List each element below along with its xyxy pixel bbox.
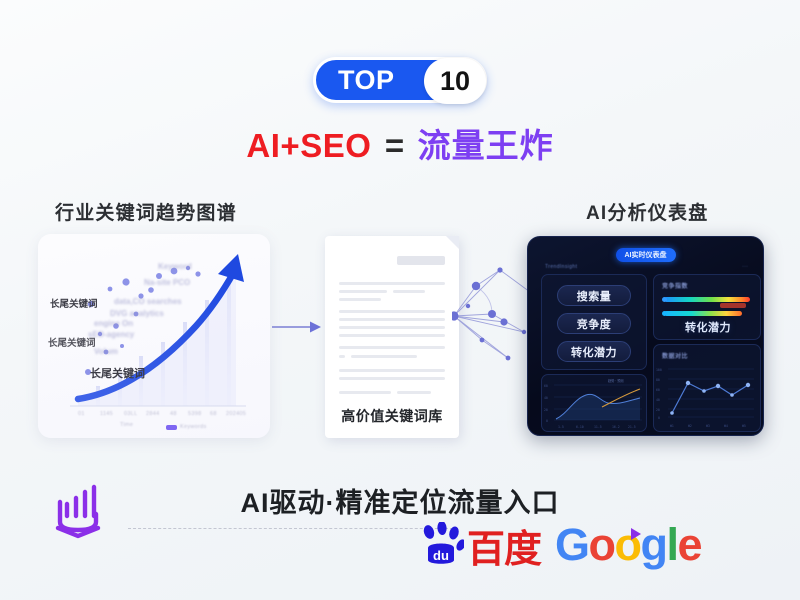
section-heading-dashboard: AI分析仪表盘 [586, 198, 708, 225]
keyword-library-document-card[interactable]: 高价值关键词库 [325, 236, 459, 438]
svg-text:40: 40 [544, 396, 548, 400]
dashboard-overlay-metric: 转化潜力 [654, 319, 762, 335]
svg-text:W4: W4 [724, 424, 728, 428]
svg-text:21-5: 21-5 [628, 425, 636, 429]
svg-text:11-5: 11-5 [594, 425, 602, 429]
svg-text:1-5: 1-5 [558, 425, 564, 429]
svg-text:16-2: 16-2 [612, 425, 620, 429]
doc-text-line [339, 334, 445, 337]
competition-gradient-bar-1 [664, 297, 750, 302]
ai-dashboard-panel[interactable]: AI实时仪表盘 TrendInsight ··· 搜索量 竞争度 转化潜力 [527, 236, 764, 436]
title-equals-sign: = [385, 127, 404, 164]
svg-text:0: 0 [546, 419, 548, 423]
title-left-text: AI+SEO [246, 127, 371, 164]
google-letter-e: e [678, 519, 702, 570]
metric-pill-conversion[interactable]: 转化潜力 [557, 341, 631, 362]
google-letter-g1: G [555, 519, 589, 570]
cursor-play-marker-icon [629, 527, 643, 541]
trend-label-keyword-1: 长尾关键词 [50, 296, 98, 310]
dashboard-comparison-panel: 数据对比 [653, 344, 761, 432]
google-letter-o1: o [589, 519, 615, 570]
top-rank-badge: TOP 10 [313, 57, 487, 103]
trend-axis-caption: Time [120, 422, 133, 428]
doc-text-line [339, 391, 391, 394]
doc-text-line [339, 290, 387, 293]
gradient-bar-marker-2 [662, 311, 667, 316]
gradient-bar-alert-tag [720, 303, 746, 308]
baidu-logo-text: 百度 [467, 532, 541, 568]
panel-title-comparison: 数据对比 [662, 351, 688, 360]
dashboard-title-badge: AI实时仪表盘 [616, 248, 676, 262]
trend-ghost-word-6: sEO-agency [88, 330, 134, 339]
trend-axis-tick-3: 03LL [124, 411, 137, 417]
svg-text:20: 20 [544, 408, 548, 412]
trend-axis-tick-8: 202405 [226, 411, 246, 417]
trend-ghost-word-5: engine On [94, 319, 133, 328]
trend-axis-tick-1: 01 [78, 411, 85, 417]
dashboard-metrics-panel: 搜索量 竞争度 转化潜力 [541, 274, 647, 370]
title-right-text: 流量王炸 [418, 127, 554, 164]
doc-text-line [351, 355, 417, 358]
svg-text:80: 80 [656, 378, 660, 382]
line-chart-graphic: 10080 6040 200 W1W2 W3W4 W5 [654, 361, 760, 431]
search-engine-logos: du 百度 Google [420, 522, 701, 568]
top-badge-number-circle: 10 [424, 58, 486, 104]
doc-text-line [393, 290, 425, 293]
top-badge-label: TOP [338, 67, 395, 94]
doc-text-line [339, 326, 445, 329]
flow-arrow-right-icon [272, 320, 322, 339]
doc-text-line [339, 346, 445, 349]
svg-text:0: 0 [658, 416, 660, 420]
trend-ghost-word-7: Volum [94, 347, 118, 356]
svg-text:W2: W2 [688, 424, 692, 428]
dashboard-competition-panel: 竞争指数 转化潜力 [653, 274, 761, 340]
trend-axis-tick-4: 2844 [146, 411, 159, 417]
area-chart-graphic: 6040 200 1-56-10 11-516-2 21-5 趋势 · 预测 [542, 375, 646, 431]
competition-gradient-bar-2 [664, 311, 742, 316]
doc-card-label: 高价值关键词库 [325, 406, 459, 426]
trend-axis-tick-6: 5398 [188, 411, 201, 417]
doc-folded-corner-icon [446, 236, 459, 249]
trend-axis-tick-5: 48 [170, 411, 177, 417]
metric-pill-competition[interactable]: 竞争度 [557, 313, 631, 334]
trend-axis-tick-7: 68 [210, 411, 217, 417]
doc-text-line [339, 369, 445, 372]
trend-chart-card: 长尾关键词 长尾关键词 长尾关键词 Keyword Na-site PCO da… [38, 234, 270, 438]
svg-text:60: 60 [656, 388, 660, 392]
trend-ghost-word-3: data,CO searches [114, 297, 182, 306]
trend-ghost-word-4: DVG analytics [110, 309, 164, 318]
baidu-bear-paw-icon: du [420, 522, 464, 568]
doc-text-line [339, 377, 445, 380]
trend-label-keyword-3: 长尾关键词 [90, 365, 145, 381]
svg-text:W1: W1 [670, 424, 674, 428]
doc-text-line [397, 391, 431, 394]
doc-text-line [339, 318, 445, 321]
svg-text:60: 60 [544, 384, 548, 388]
google-letter-g2: g [641, 519, 667, 570]
trend-axis-tick-2: 1145 [100, 411, 113, 417]
panel-title-competition: 竞争指数 [662, 281, 688, 290]
dashboard-menu-icon[interactable]: ··· [742, 264, 748, 270]
bottom-claim-text: AI驱动·精准定位流量入口 [0, 481, 800, 520]
svg-text:W3: W3 [706, 424, 710, 428]
google-letter-l: l [667, 519, 678, 570]
section-heading-trend: 行业关键词趋势图谱 [55, 198, 237, 225]
svg-text:6-10: 6-10 [576, 425, 584, 429]
trend-ghost-word-2: Na-site PCO [144, 278, 190, 287]
svg-text:趋势 · 预测: 趋势 · 预测 [608, 378, 624, 383]
bottom-divider [128, 528, 458, 529]
metric-pill-search-volume[interactable]: 搜索量 [557, 285, 631, 306]
svg-text:100: 100 [656, 368, 662, 372]
dashboard-brand-label: TrendInsight [545, 264, 577, 270]
gradient-bar-marker-1 [662, 297, 667, 302]
page-title: AI+SEO = 流量王炸 [0, 128, 800, 164]
doc-text-line [339, 282, 445, 285]
doc-header-chip [397, 256, 445, 265]
dashboard-area-chart-panel: 6040 200 1-56-10 11-516-2 21-5 趋势 · 预测 [541, 374, 647, 432]
svg-text:40: 40 [656, 398, 660, 402]
doc-text-line [339, 310, 445, 313]
svg-text:20: 20 [656, 408, 660, 412]
doc-bullet-marker [339, 355, 345, 358]
trend-ghost-word-1: Keyword [158, 262, 192, 271]
baidu-logo: du 百度 [420, 522, 541, 568]
doc-text-line [339, 298, 381, 301]
svg-text:W5: W5 [742, 424, 746, 428]
top-badge-number: 10 [440, 68, 470, 95]
keyword-network-graph [452, 262, 532, 375]
trend-legend-label: Keywords [180, 424, 207, 430]
svg-text:du: du [433, 548, 449, 563]
